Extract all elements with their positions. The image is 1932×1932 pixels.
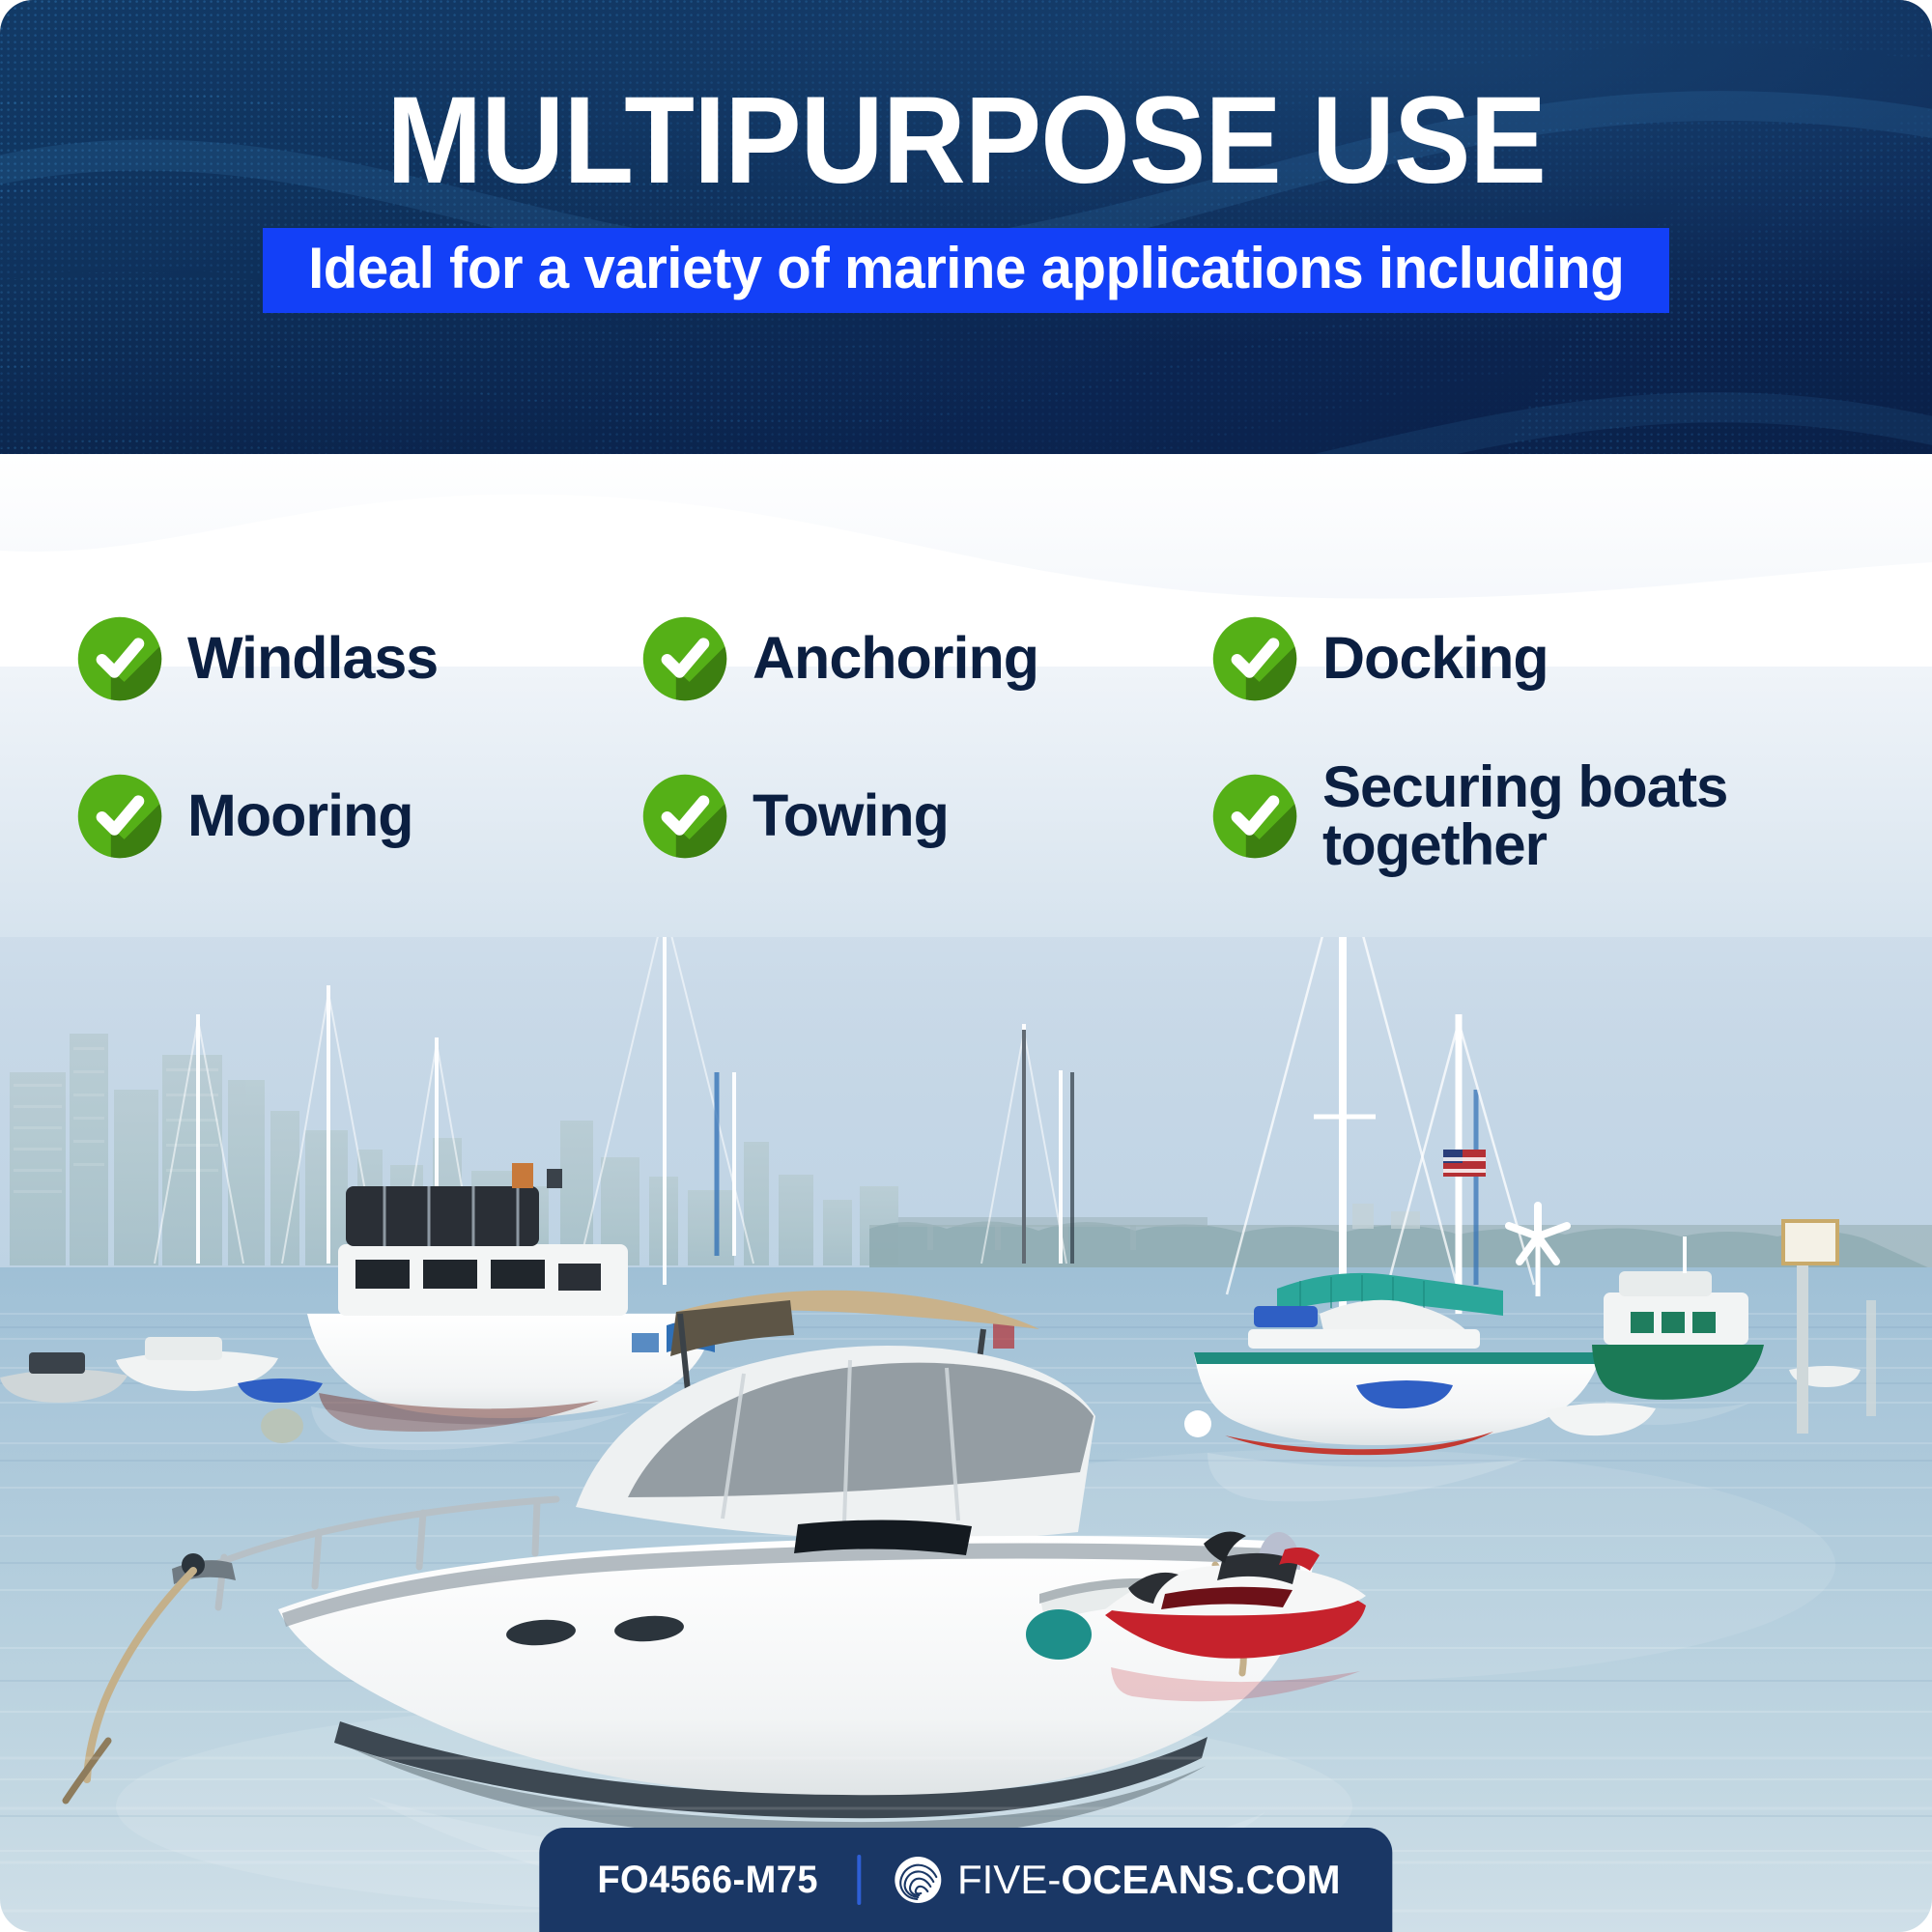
marina-scene-illustration — [0, 831, 1932, 1932]
promo-graphic: MULTIPURPOSE USE Ideal for a variety of … — [0, 0, 1932, 1932]
feature-label: Securing boats together — [1322, 758, 1727, 874]
feature-item-towing: Towing — [640, 772, 1210, 861]
feature-label: Anchoring — [753, 628, 1038, 688]
feature-item-securing-boats-together: Securing boats together — [1210, 758, 1857, 874]
feature-list: Windlass Anchoring Docking — [0, 580, 1932, 895]
badge-divider — [857, 1855, 861, 1905]
brand-name: FIVE- OCEANS.COM — [957, 1857, 1341, 1903]
feature-item-mooring: Mooring — [75, 772, 640, 861]
check-circle-icon — [640, 614, 729, 703]
shell-spiral-logo-icon — [894, 1856, 942, 1904]
feature-item-windlass: Windlass — [75, 614, 640, 703]
check-circle-icon — [1210, 614, 1299, 703]
page-title: MULTIPURPOSE USE — [68, 75, 1864, 207]
subtitle-highlight: Ideal for a variety of marine applicatio… — [263, 228, 1669, 313]
title-block: MULTIPURPOSE USE Ideal for a variety of … — [0, 75, 1932, 313]
mooring-ball — [261, 1408, 303, 1443]
footer-badge: FO4566-M75 FIVE- OCEANS.COM — [539, 1828, 1392, 1932]
brand-name-light: FIVE- — [957, 1857, 1061, 1903]
check-circle-icon — [1210, 772, 1299, 861]
feature-label: Docking — [1322, 628, 1548, 688]
product-sku: FO4566-M75 — [597, 1859, 818, 1902]
check-circle-icon — [75, 772, 164, 861]
check-circle-icon — [75, 614, 164, 703]
marina-photo — [0, 831, 1932, 1932]
feature-label: Mooring — [187, 785, 413, 845]
us-flag — [1443, 1150, 1486, 1177]
check-circle-icon — [640, 772, 729, 861]
feature-item-anchoring: Anchoring — [640, 614, 1210, 703]
page-subtitle: Ideal for a variety of marine applicatio… — [308, 240, 1624, 298]
promo-card: MULTIPURPOSE USE Ideal for a variety of … — [0, 0, 1932, 1932]
feature-label: Windlass — [187, 628, 438, 688]
brand-name-bold: OCEANS.COM — [1061, 1857, 1340, 1903]
feature-item-docking: Docking — [1210, 614, 1857, 703]
brand-lockup[interactable]: FIVE- OCEANS.COM — [894, 1856, 1341, 1904]
feature-label: Towing — [753, 785, 949, 845]
